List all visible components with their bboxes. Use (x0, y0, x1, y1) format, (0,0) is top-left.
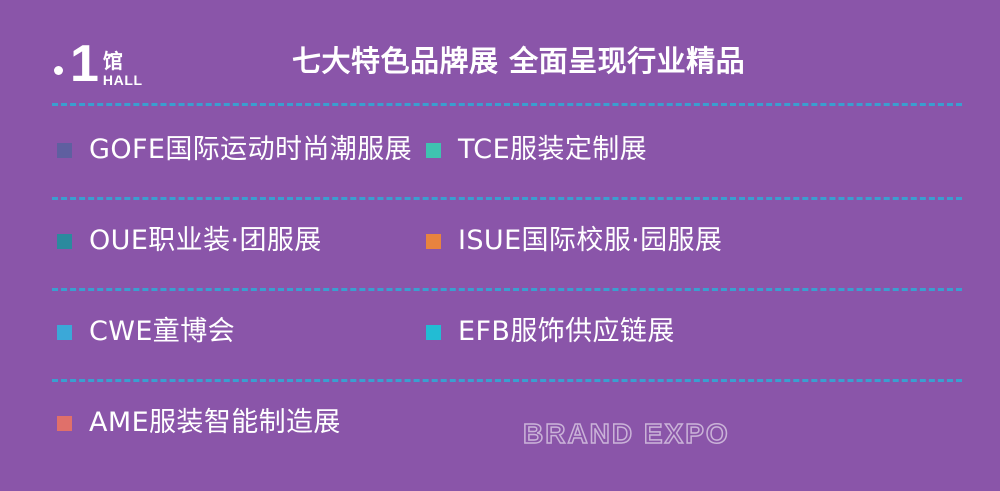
bullet-square-icon (426, 325, 441, 340)
exhibition-row: OUE职业装·团服展 ISUE国际校服·园服展 (0, 195, 1000, 286)
exhibition-label: GOFE国际运动时尚潮服展 (89, 134, 412, 166)
hall-dot-icon (54, 66, 63, 75)
bullet-square-icon (426, 234, 441, 249)
bullet-square-icon (57, 416, 72, 431)
exhibition-list: GOFE国际运动时尚潮服展 TCE服装定制展 OUE职业装·团服展 ISUE国际… (0, 104, 1000, 468)
hall-label-en: HALL (103, 72, 143, 88)
bullet-square-icon (57, 143, 72, 158)
exhibition-item-tce[interactable]: TCE服装定制展 (426, 134, 647, 166)
exhibition-item-ame[interactable]: AME服装智能制造展 (0, 407, 426, 439)
brand-expo-banner: 1 馆 HALL 七大特色品牌展 全面呈现行业精品 GOFE国际运动时尚潮服展 … (0, 0, 1000, 491)
exhibition-item-cwe[interactable]: CWE童博会 (0, 316, 426, 348)
hall-number: 1 (70, 39, 98, 89)
hall-label-group: 馆 HALL (103, 51, 143, 89)
exhibition-label: CWE童博会 (89, 316, 235, 348)
exhibition-label: OUE职业装·团服展 (89, 225, 322, 257)
bullet-square-icon (57, 325, 72, 340)
banner-header: 1 馆 HALL 七大特色品牌展 全面呈现行业精品 (0, 0, 1000, 104)
page-title: 七大特色品牌展 全面呈现行业精品 (292, 44, 745, 78)
bullet-square-icon (426, 143, 441, 158)
exhibition-row: CWE童博会 EFB服饰供应链展 (0, 286, 1000, 377)
exhibition-label: EFB服饰供应链展 (458, 316, 675, 348)
exhibition-item-gofe[interactable]: GOFE国际运动时尚潮服展 (0, 134, 426, 166)
exhibition-label: AME服装智能制造展 (89, 407, 341, 439)
exhibition-label: ISUE国际校服·园服展 (458, 225, 722, 257)
exhibition-item-oue[interactable]: OUE职业装·团服展 (0, 225, 426, 257)
exhibition-item-isue[interactable]: ISUE国际校服·园服展 (426, 225, 722, 257)
exhibition-row: AME服装智能制造展 (0, 377, 1000, 468)
exhibition-label: TCE服装定制展 (458, 134, 647, 166)
hall-number-logo: 1 馆 HALL (54, 33, 143, 89)
exhibition-row: GOFE国际运动时尚潮服展 TCE服装定制展 (0, 104, 1000, 195)
hall-label-cn: 馆 (103, 51, 143, 72)
bullet-square-icon (57, 234, 72, 249)
brand-expo-watermark: BRAND EXPO (523, 418, 730, 450)
exhibition-item-efb[interactable]: EFB服饰供应链展 (426, 316, 675, 348)
